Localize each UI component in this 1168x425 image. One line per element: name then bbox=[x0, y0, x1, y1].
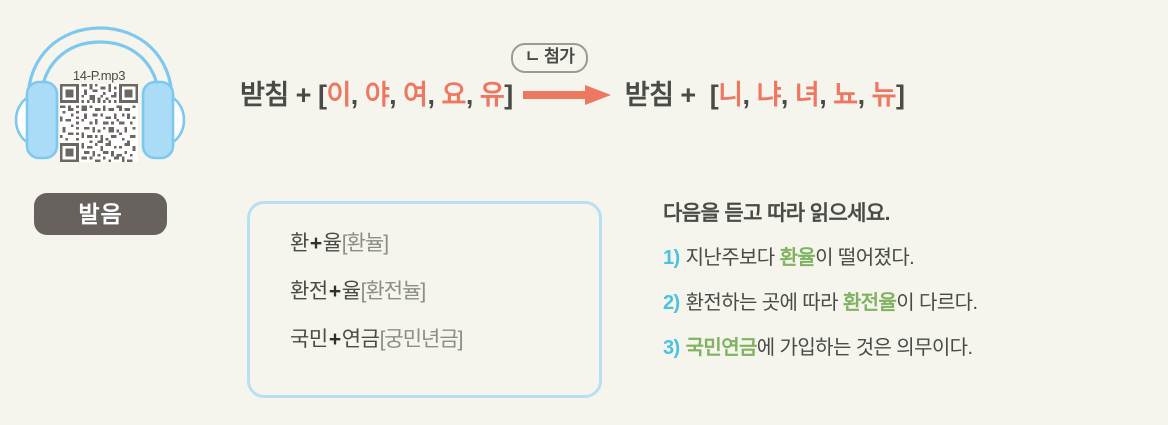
example-plus: + bbox=[328, 328, 342, 351]
right-arrow-icon bbox=[523, 84, 611, 106]
arrow-group: ㄴ 첨가 bbox=[523, 78, 611, 112]
qr-wrap: 14-P.mp3 bbox=[60, 68, 138, 162]
rule-right-item-1: 냐 bbox=[757, 80, 781, 110]
audio-block: 14-P.mp3 bbox=[14, 16, 186, 226]
rule-right-close-bracket: ] bbox=[896, 80, 905, 110]
practice-panel: 다음을 듣고 따라 읽으세요. 1)지난주보다 환율이 떨어졌다. 2)환전하는… bbox=[663, 201, 1153, 381]
practice-item-number: 1) bbox=[663, 247, 680, 269]
rule-badge: ㄴ 첨가 bbox=[511, 43, 589, 73]
qr-code[interactable] bbox=[60, 84, 138, 162]
rule-right-expression: 받침 + [니, 냐, 녀, 뇨, 뉴] bbox=[625, 78, 905, 112]
example-word-b: 율 bbox=[323, 232, 342, 255]
rule-right-item-4: 뉴 bbox=[872, 80, 896, 110]
example-phonetic: [궁민년금] bbox=[380, 328, 463, 351]
example-phonetic: [환뉼] bbox=[342, 232, 388, 255]
rule-right-item-0: 니 bbox=[718, 80, 742, 110]
practice-item-pre: 지난주보다 bbox=[686, 247, 780, 269]
example-word-b: 연금 bbox=[342, 328, 380, 351]
rule-right-item-3: 뇨 bbox=[833, 80, 857, 110]
practice-item-number: 3) bbox=[663, 337, 680, 359]
practice-item-post: 이 다르다. bbox=[896, 292, 977, 314]
practice-item-post: 에 가입하는 것은 의무이다. bbox=[757, 337, 973, 359]
practice-heading: 다음을 듣고 따라 읽으세요. bbox=[663, 201, 1153, 227]
example-plus: + bbox=[309, 232, 323, 255]
rule-right-item-2: 녀 bbox=[795, 80, 819, 110]
example-word-a: 환 bbox=[290, 232, 309, 255]
practice-item: 2)환전하는 곳에 따라 환전율이 다르다. bbox=[663, 291, 1153, 315]
practice-item-keyword: 환율 bbox=[780, 247, 816, 269]
practice-item-post: 이 떨어졌다. bbox=[815, 247, 914, 269]
example-box: 환+율[환뉼] 환전+율[환전뉼] 국민+연금[궁민년금] bbox=[247, 201, 602, 398]
practice-item-number: 2) bbox=[663, 292, 680, 314]
rule-right-open-bracket: [ bbox=[710, 80, 719, 110]
rule-left-close-bracket: ] bbox=[504, 80, 513, 110]
rule-left-item-2: 여 bbox=[403, 80, 427, 110]
practice-item-keyword: 국민연금 bbox=[686, 337, 757, 359]
practice-item-keyword: 환전율 bbox=[843, 292, 896, 314]
pronunciation-button-label: 발음 bbox=[78, 203, 122, 226]
example-word-b: 율 bbox=[342, 280, 361, 303]
example-line: 국민+연금[궁민년금] bbox=[290, 328, 599, 352]
rule-formula-row: 받침 + [이, 야, 여, 요, 유] ㄴ 첨가 받침 + [니, 냐, 녀,… bbox=[240, 78, 904, 112]
rule-left-item-3: 요 bbox=[442, 80, 466, 110]
example-line: 환전+율[환전뉼] bbox=[290, 280, 599, 304]
example-word-a: 환전 bbox=[290, 280, 328, 303]
rule-left-base: 받침 + bbox=[240, 80, 318, 110]
example-word-a: 국민 bbox=[290, 328, 328, 351]
practice-item: 3)국민연금에 가입하는 것은 의무이다. bbox=[663, 336, 1153, 360]
rule-left-expression: 받침 + [이, 야, 여, 요, 유] bbox=[240, 78, 513, 112]
audio-file-label: 14-P.mp3 bbox=[60, 68, 138, 83]
rule-left-item-1: 야 bbox=[365, 80, 389, 110]
practice-item: 1)지난주보다 환율이 떨어졌다. bbox=[663, 246, 1153, 270]
example-line: 환+율[환뉼] bbox=[290, 232, 599, 256]
rule-left-item-0: 이 bbox=[326, 80, 350, 110]
practice-item-pre: 환전하는 곳에 따라 bbox=[686, 292, 843, 314]
rule-left-item-4: 유 bbox=[480, 80, 504, 110]
example-phonetic: [환전뉼] bbox=[361, 280, 426, 303]
rule-right-base: 받침 + bbox=[625, 80, 703, 110]
example-plus: + bbox=[328, 280, 342, 303]
pronunciation-button[interactable]: 발음 bbox=[34, 193, 167, 235]
